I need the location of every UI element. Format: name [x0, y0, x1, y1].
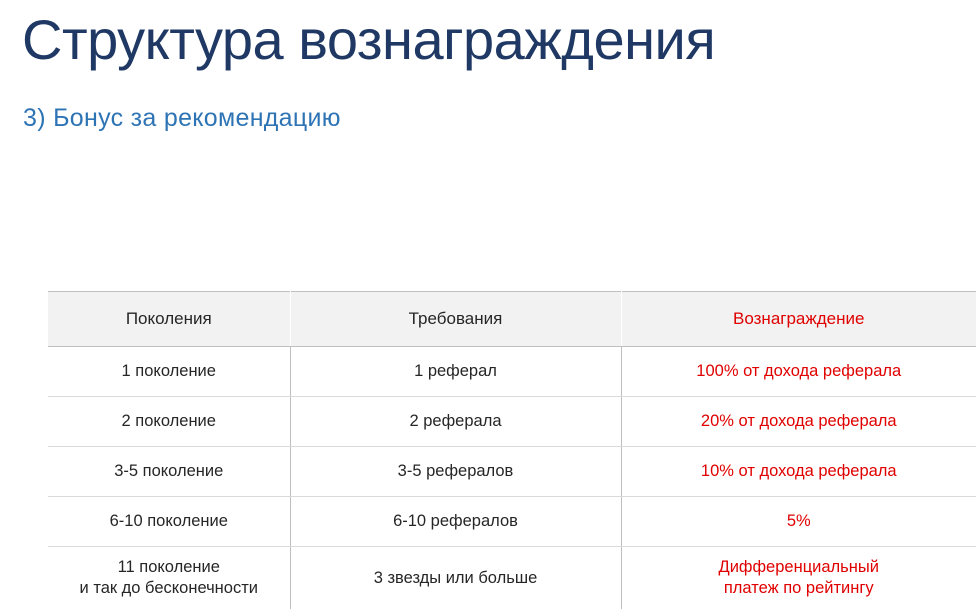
- cell-generation: 1 поколение: [48, 347, 290, 397]
- table-row: 2 поколение 2 реферала 20% от дохода реф…: [48, 397, 976, 447]
- table-header: Поколения Требования Вознаграждение: [48, 292, 976, 347]
- cell-reward: 100% от дохода реферала: [621, 347, 976, 397]
- table-body: 1 поколение 1 реферал 100% от дохода реф…: [48, 347, 976, 610]
- cell-reward: 5%: [621, 497, 976, 547]
- reward-table: Поколения Требования Вознаграждение 1 по…: [48, 291, 976, 609]
- slide: Структура вознаграждения 3) Бонус за рек…: [0, 0, 976, 613]
- cell-generation: 2 поколение: [48, 397, 290, 447]
- cell-requirement: 2 реферала: [290, 397, 621, 447]
- cell-generation-line1: 11 поколение: [54, 557, 284, 578]
- column-header-reward: Вознаграждение: [621, 292, 976, 347]
- reward-table-container: Поколения Требования Вознаграждение 1 по…: [48, 291, 976, 609]
- table-row: 6-10 поколение 6-10 рефералов 5%: [48, 497, 976, 547]
- page-subtitle: 3) Бонус за рекомендацию: [23, 104, 341, 133]
- cell-requirement: 3 звезды или больше: [290, 547, 621, 610]
- cell-reward: 10% от дохода реферала: [621, 447, 976, 497]
- table-row: 11 поколение и так до бесконечности 3 зв…: [48, 547, 976, 610]
- cell-reward-line1: Дифференциальный: [628, 557, 971, 578]
- cell-requirement: 3-5 рефералов: [290, 447, 621, 497]
- cell-requirement: 1 реферал: [290, 347, 621, 397]
- table-row: 1 поколение 1 реферал 100% от дохода реф…: [48, 347, 976, 397]
- cell-generation: 6-10 поколение: [48, 497, 290, 547]
- cell-requirement: 6-10 рефералов: [290, 497, 621, 547]
- table-header-row: Поколения Требования Вознаграждение: [48, 292, 976, 347]
- page-title: Структура вознаграждения: [22, 8, 715, 72]
- cell-generation: 11 поколение и так до бесконечности: [48, 547, 290, 610]
- cell-generation: 3-5 поколение: [48, 447, 290, 497]
- column-header-generations: Поколения: [48, 292, 290, 347]
- table-row: 3-5 поколение 3-5 рефералов 10% от доход…: [48, 447, 976, 497]
- cell-reward: Дифференциальный платеж по рейтингу: [621, 547, 976, 610]
- cell-generation-line2: и так до бесконечности: [54, 578, 284, 599]
- cell-reward-line2: платеж по рейтингу: [628, 578, 971, 599]
- cell-reward: 20% от дохода реферала: [621, 397, 976, 447]
- column-header-requirements: Требования: [290, 292, 621, 347]
